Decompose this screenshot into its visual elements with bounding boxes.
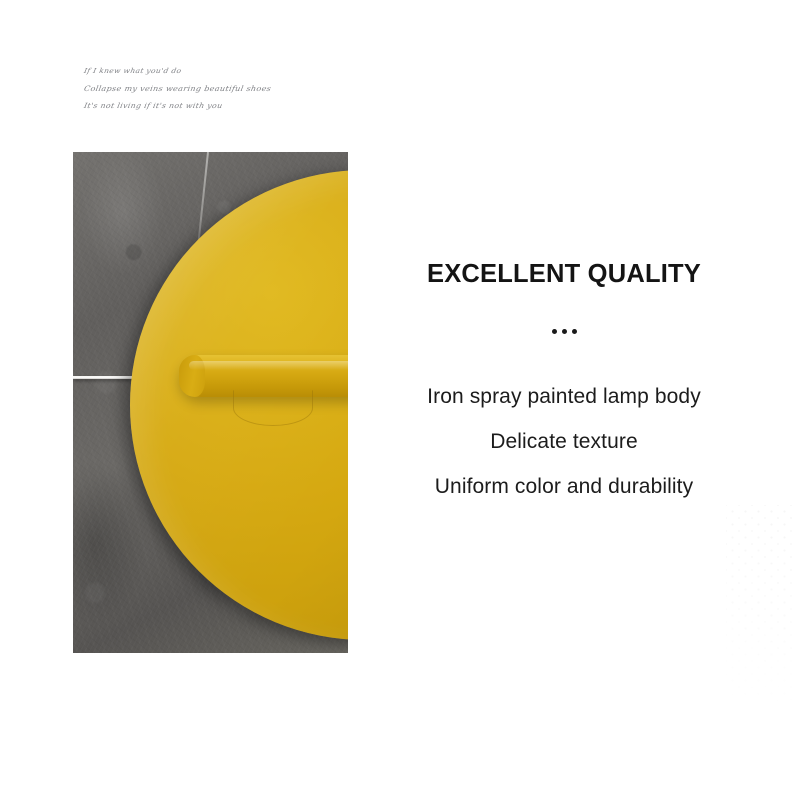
script-line-3: It's not living if it's not with you	[82, 98, 335, 114]
marketing-copy: EXCELLENT QUALITY Iron spray painted lam…	[392, 258, 736, 509]
lamp-tube-arc	[233, 390, 313, 426]
product-photo	[73, 152, 348, 653]
divider-dot-2	[562, 329, 567, 334]
script-line-2: Collapse my veins wearing beautiful shoe…	[82, 80, 335, 96]
feature-item-1: Iron spray painted lamp body	[392, 374, 736, 419]
handwritten-script-note: If I knew what you'd do Collapse my vein…	[84, 62, 334, 115]
product-feature-page: If I knew what you'd do Collapse my vein…	[0, 0, 800, 800]
lamp-tube-highlight	[189, 361, 348, 370]
divider-dot-3	[572, 329, 577, 334]
script-line-1: If I knew what you'd do	[82, 63, 335, 79]
divider-dot-1	[552, 329, 557, 334]
dot-divider	[392, 324, 736, 338]
page-title: EXCELLENT QUALITY	[392, 258, 736, 290]
feature-item-2: Delicate texture	[392, 419, 736, 464]
feature-list: Iron spray painted lamp body Delicate te…	[392, 374, 736, 509]
dot-grid-decoration	[726, 505, 792, 701]
feature-item-3: Uniform color and durability	[392, 464, 736, 509]
